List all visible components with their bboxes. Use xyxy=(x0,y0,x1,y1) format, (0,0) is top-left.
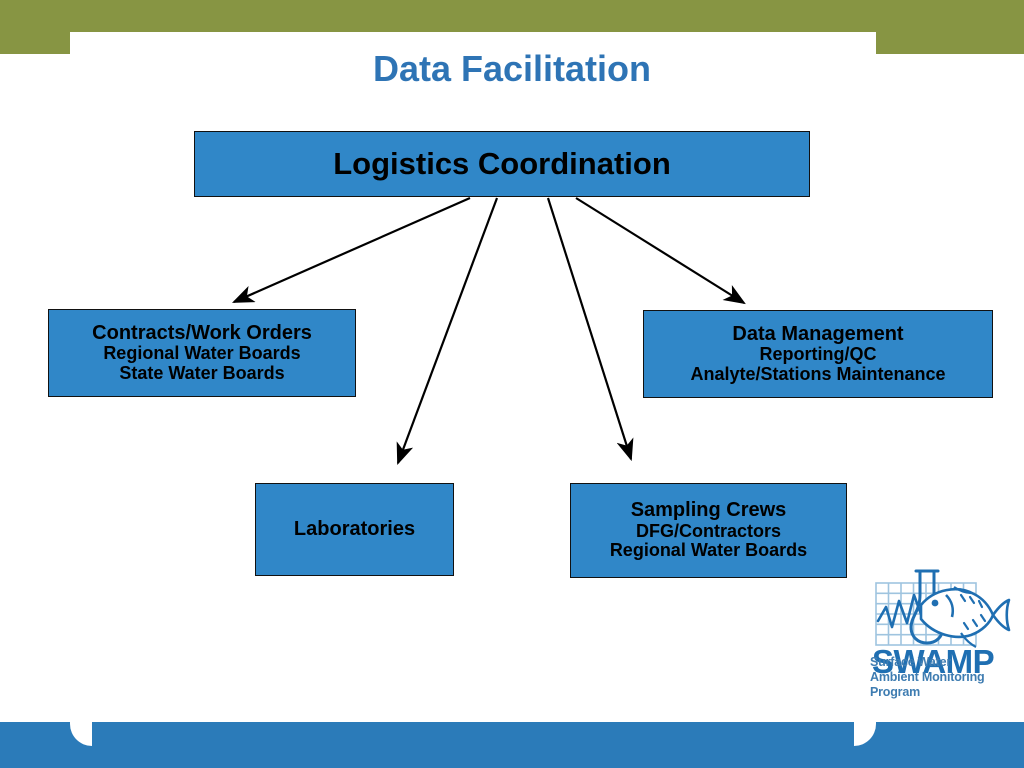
top-band xyxy=(0,0,1024,32)
node-title: Sampling Crews xyxy=(631,500,787,522)
node-subline-1: Regional Water Boards xyxy=(103,344,300,363)
node-title: Data Management xyxy=(732,324,903,346)
logo-fish-icon xyxy=(921,587,1009,647)
panel-corner-bottom-right xyxy=(854,722,876,746)
bottom-band-left-fill xyxy=(0,722,70,746)
logo-tagline-line-2: Ambient Monitoring xyxy=(870,670,1016,685)
node-laboratories[interactable]: Laboratories xyxy=(255,483,454,576)
node-title: Logistics Coordination xyxy=(333,147,671,180)
node-title: Contracts/Work Orders xyxy=(92,323,312,345)
node-subline-2: Analyte/Stations Maintenance xyxy=(690,365,945,384)
logo-tagline-line-1: Surface Water xyxy=(870,655,1016,670)
bottom-band-right-fill xyxy=(876,722,1024,746)
node-subline-1: Reporting/QC xyxy=(760,345,877,364)
node-title: Laboratories xyxy=(294,519,415,541)
node-sampling-crews[interactable]: Sampling Crews DFG/Contractors Regional … xyxy=(570,483,847,578)
bottom-band xyxy=(0,722,1024,768)
node-subline-2: State Water Boards xyxy=(119,364,284,383)
slide-title: Data Facilitation xyxy=(0,48,1024,90)
logo-tagline-line-3: Program xyxy=(870,685,1016,700)
node-logistics-coordination[interactable]: Logistics Coordination xyxy=(194,131,810,197)
node-contracts-work-orders[interactable]: Contracts/Work Orders Regional Water Boa… xyxy=(48,309,356,397)
node-subline-2: Regional Water Boards xyxy=(610,541,807,560)
node-subline-1: DFG/Contractors xyxy=(636,522,781,541)
panel-corner-bottom-left xyxy=(70,722,92,746)
node-data-management[interactable]: Data Management Reporting/QC Analyte/Sta… xyxy=(643,310,993,398)
slide-canvas: Data Facilitation Logistics Coordination… xyxy=(0,0,1024,768)
